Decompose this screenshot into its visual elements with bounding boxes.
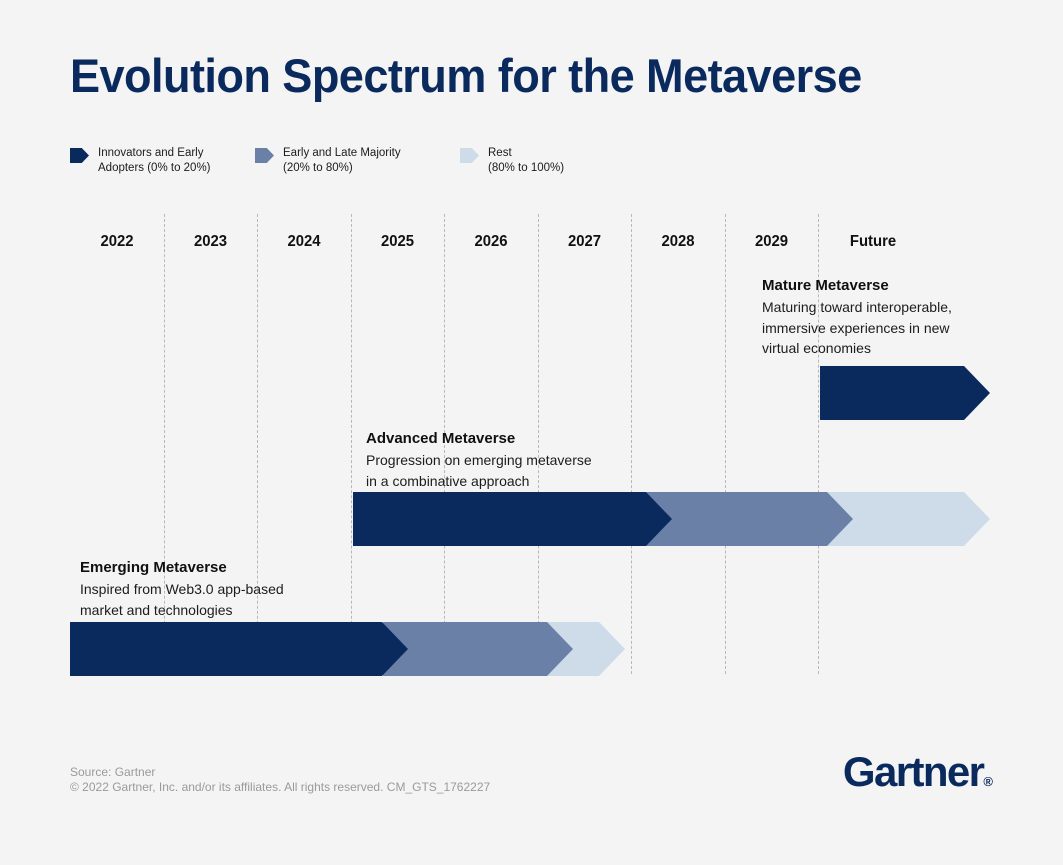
arrow-swatch-icon: [255, 148, 274, 163]
annotation-mature-metaverse: Mature Metaverse Maturing toward interop…: [762, 277, 952, 359]
annotation-title: Advanced Metaverse: [366, 430, 592, 447]
grid-divider: [351, 214, 352, 674]
annotation-title: Emerging Metaverse: [80, 559, 284, 576]
bar-segment-innovators: [820, 366, 990, 420]
legend: Innovators and Early Adopters (0% to 20%…: [70, 146, 594, 175]
annotation-description: Progression on emerging metaverse in a c…: [366, 450, 592, 491]
legend-item-label: Early and Late Majority (20% to 80%): [283, 146, 401, 175]
grid-divider: [725, 214, 726, 674]
arrow-swatch-icon: [70, 148, 89, 163]
legend-item-label: Rest (80% to 100%): [488, 146, 564, 175]
annotation-title: Mature Metaverse: [762, 277, 952, 294]
bar-segment-innovators: [353, 492, 672, 546]
page-title: Evolution Spectrum for the Metaverse: [70, 48, 862, 103]
arrow-swatch-icon: [460, 148, 479, 163]
legend-item-majority: Early and Late Majority (20% to 80%): [255, 146, 460, 175]
legend-item-innovators: Innovators and Early Adopters (0% to 20%…: [70, 146, 255, 175]
registered-trademark-icon: ®: [983, 774, 993, 789]
gartner-logo: Gartner®: [843, 748, 993, 796]
legend-item-rest: Rest (80% to 100%): [460, 146, 564, 175]
footer-copyright: © 2022 Gartner, Inc. and/or its affiliat…: [70, 779, 490, 796]
annotation-advanced-metaverse: Advanced Metaverse Progression on emergi…: [366, 430, 592, 491]
annotation-emerging-metaverse: Emerging Metaverse Inspired from Web3.0 …: [80, 559, 284, 620]
logo-wordmark: Gartner: [843, 748, 984, 795]
annotation-description: Inspired from Web3.0 app-based market an…: [80, 579, 284, 620]
infographic-canvas: Evolution Spectrum for the Metaverse Inn…: [0, 0, 1063, 865]
bar-segment-majority: [383, 622, 573, 676]
bar-segment-innovators: [70, 622, 408, 676]
annotation-description: Maturing toward interoperable, immersive…: [762, 297, 952, 359]
bar-emerging-metaverse: [70, 622, 625, 676]
bar-mature-metaverse: [820, 366, 990, 420]
bar-advanced-metaverse: [353, 492, 990, 546]
legend-item-label: Innovators and Early Adopters (0% to 20%…: [98, 146, 211, 175]
grid-divider: [631, 214, 632, 674]
